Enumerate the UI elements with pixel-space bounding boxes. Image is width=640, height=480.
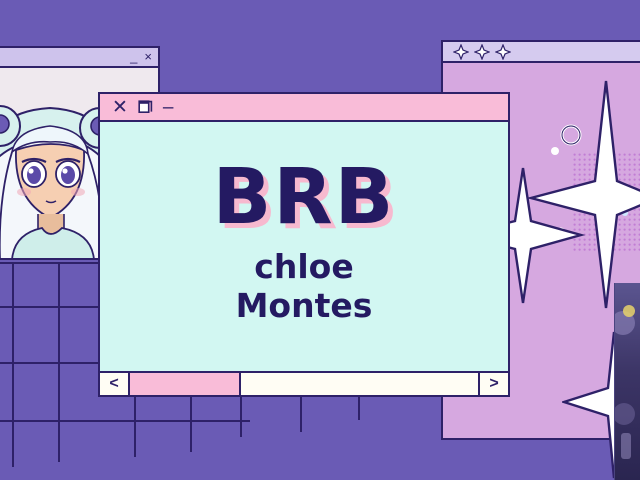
sparkle-icon-1 xyxy=(453,44,469,60)
brb-subtitle-line1: chloe xyxy=(236,248,373,287)
brb-window[interactable]: ✕ – BRB chloe Montes < > xyxy=(98,92,510,397)
sparkle-window-titlebar[interactable] xyxy=(443,42,640,63)
scrollbar-track[interactable] xyxy=(130,373,478,395)
sparkle-icon-2 xyxy=(474,44,490,60)
restore-icon[interactable] xyxy=(138,100,153,115)
close-icon[interactable]: × xyxy=(144,52,152,62)
desktop-canvas: _ × xyxy=(0,0,640,480)
horizontal-scrollbar[interactable]: < > xyxy=(100,371,508,395)
photo-window-titlebar[interactable]: _ × xyxy=(0,48,158,68)
brb-window-titlebar[interactable]: ✕ – xyxy=(100,94,508,122)
brb-window-content: BRB chloe Montes xyxy=(100,122,508,371)
minimize-icon[interactable]: _ xyxy=(130,52,137,62)
close-icon[interactable]: ✕ xyxy=(112,98,128,117)
scroll-right-arrow[interactable]: > xyxy=(478,373,508,395)
scroll-left-arrow[interactable]: < xyxy=(100,373,130,395)
brb-subtitle: chloe Montes xyxy=(236,248,373,326)
sparkle-icon-3 xyxy=(495,44,511,60)
minimize-icon[interactable]: – xyxy=(163,98,174,117)
brb-title: BRB xyxy=(213,161,396,234)
scrollbar-thumb[interactable] xyxy=(130,373,241,395)
right-photo-strip xyxy=(614,283,640,480)
brb-subtitle-line2: Montes xyxy=(236,287,373,326)
